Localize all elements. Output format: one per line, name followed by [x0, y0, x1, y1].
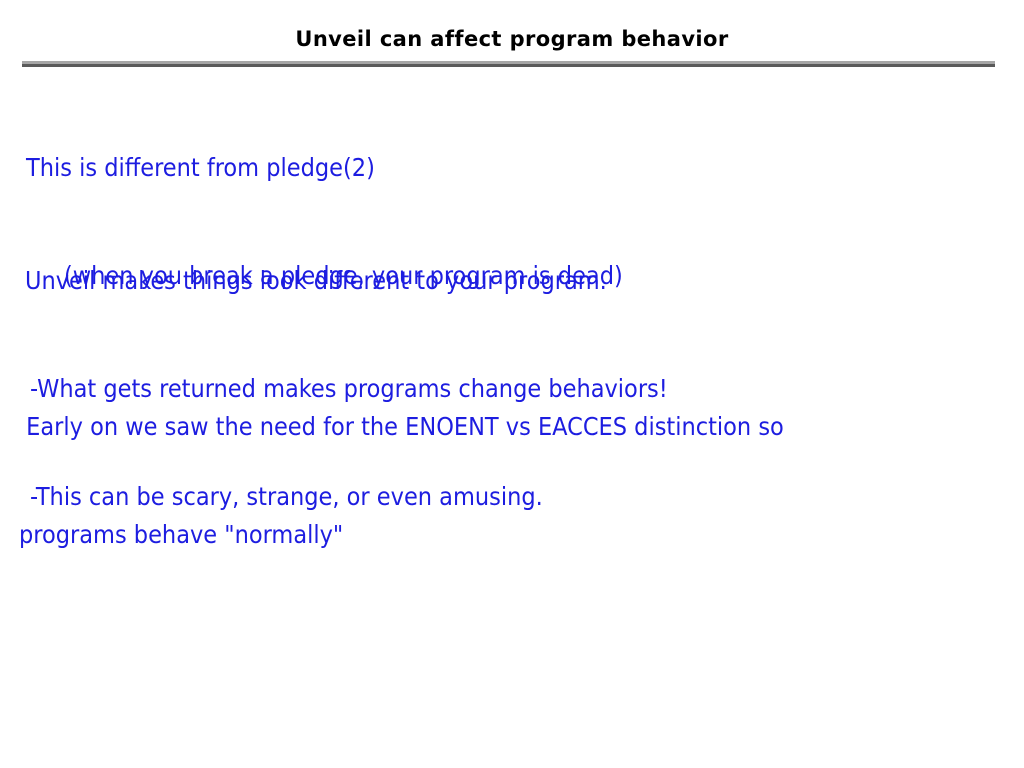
- body-line: Early on we saw the need for the ENOENT …: [19, 409, 979, 445]
- body-line: Unveil makes things look different to yo…: [25, 263, 668, 299]
- page-title: Unveil can affect program behavior: [0, 26, 1024, 52]
- body-line: This is different from pledge(2): [26, 150, 623, 186]
- title-divider-rule: [22, 61, 995, 67]
- body-paragraph-enoent-eacces: Early on we saw the need for the ENOENT …: [19, 337, 979, 625]
- slide-canvas: Unveil can affect program behavior This …: [0, 0, 1024, 768]
- divider-rule-lower-band: [22, 64, 995, 67]
- body-line: programs behave "normally": [19, 517, 979, 553]
